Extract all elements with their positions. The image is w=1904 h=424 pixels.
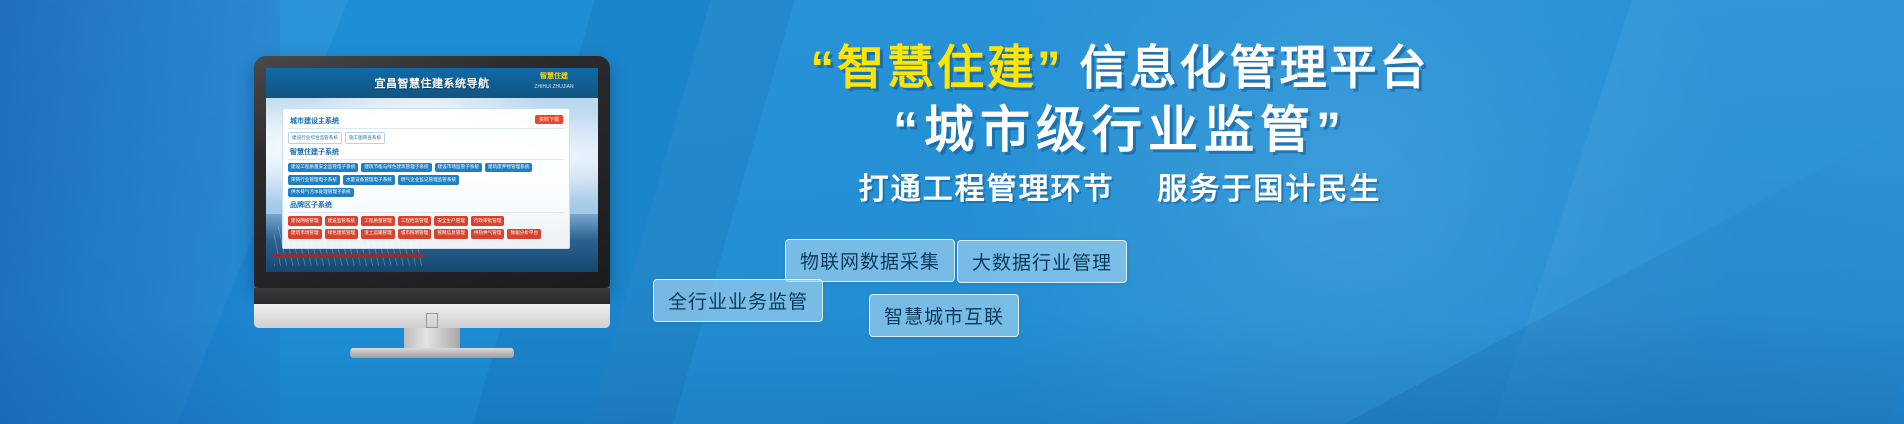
- screen-chip[interactable]: 行政审批管理: [471, 216, 505, 226]
- headline-line3-part-b: 服务于国计民生: [1157, 173, 1381, 206]
- screen-chip[interactable]: 渣土运输管理: [361, 229, 395, 239]
- screen-chip[interactable]: 工程档案管理: [398, 216, 432, 226]
- screen-body: 资料下载 城市建设主系统 建设行业综合监管系统 施工图审查系统 智慧住建子系统 …: [266, 98, 598, 272]
- screen-chip[interactable]: 荣销行业管理电子系统: [288, 175, 340, 185]
- screen-chip-row: 建设网络管理 建设监管系统 工程质量管理 工程档案管理 安全生产管理 行政审批管…: [288, 216, 564, 226]
- screen-download-button[interactable]: 资料下载: [535, 115, 563, 124]
- feature-tag-bigdata-industry[interactable]: 大数据行业管理: [957, 240, 1127, 283]
- screen-chip[interactable]: 供水排气污水处理管理子系统: [288, 188, 354, 198]
- headline-line-2: “城市级行业监管”: [620, 99, 1620, 162]
- screen-section-heading: 品牌区子系统: [290, 200, 564, 210]
- headline-line1-rest: 信息化管理平台: [1080, 41, 1430, 94]
- screen-chip[interactable]: 建设监管系统: [325, 216, 359, 226]
- screen-chip[interactable]: 城市照明管理: [398, 229, 432, 239]
- feature-tag-smart-city[interactable]: 智慧城市互联: [869, 294, 1019, 337]
- screen-chip[interactable]: 建筑节能与绿色建筑管理子系统: [361, 163, 431, 173]
- screen-section-divider: [288, 212, 564, 213]
- screen-chip[interactable]: 供热供气管理: [471, 229, 505, 239]
- headline-line-1: “智慧住建” 信息化管理平台: [620, 40, 1620, 95]
- monitor-stand-neck: [404, 328, 460, 350]
- monitor-screen: 宜昌智慧住建系统导航 智慧住建 ZHIHUI ZHUJIAN 资料下载 城市建设…: [266, 68, 598, 272]
- screen-chip[interactable]: 燃气企业监记管理监管系统: [398, 175, 459, 185]
- banner-root: 宜昌智慧住建系统导航 智慧住建 ZHIHUI ZHUJIAN 资料下载 城市建设…: [0, 0, 1904, 424]
- screen-chip[interactable]: 管网信息管理: [434, 229, 468, 239]
- feature-tag-industry-supervision[interactable]: 全行业业务监管: [653, 279, 823, 322]
- screen-section-divider: [288, 159, 564, 160]
- screen-chip[interactable]: 建设行业综合监管系统: [288, 132, 342, 144]
- screen-chip[interactable]: 安全生产管理: [434, 216, 468, 226]
- screen-chip[interactable]: 施工图审查系统: [345, 132, 385, 144]
- screen-chip-row: 建设工程质量安全监管电子系统 建筑节能与绿色建筑管理子系统 建设市场监管子系统 …: [288, 163, 564, 173]
- screen-chip[interactable]: 建设市场监管子系统: [435, 163, 482, 173]
- screen-chip-row: 建筑市场管理 绿色建筑管理 渣土运输管理 城市照明管理 管网信息管理 供热供气管…: [288, 229, 564, 239]
- headline-quote-open: “: [810, 41, 837, 94]
- screen-chip-row: 供水排气污水处理管理子系统: [288, 188, 564, 198]
- monitor-stand-foot: [350, 348, 514, 358]
- screen-section-divider: [288, 128, 564, 129]
- headline-block: “智慧住建” 信息化管理平台 “城市级行业监管” 打通工程管理环节 服务于国计民…: [620, 40, 1620, 209]
- feature-tag-iot-data[interactable]: 物联网数据采集: [785, 239, 955, 282]
- screen-chip[interactable]: 工程质量管理: [361, 216, 395, 226]
- screen-section-heading: 智慧住建子系统: [290, 147, 564, 157]
- imac-mockup: 宜昌智慧住建系统导航 智慧住建 ZHIHUI ZHUJIAN 资料下载 城市建设…: [254, 56, 610, 356]
- screen-titlebar: 宜昌智慧住建系统导航 智慧住建 ZHIHUI ZHUJIAN: [266, 68, 598, 98]
- screen-chip-row: 荣销行业管理电子系统 水量设备管理电子系统 燃气企业监记管理监管系统: [288, 175, 564, 185]
- screen-chip[interactable]: 水量设备管理电子系统: [343, 175, 395, 185]
- headline-line3-part-a: 打通工程管理环节: [859, 173, 1115, 206]
- screen-chip-row: 建设行业综合监管系统 施工图审查系统: [288, 132, 564, 144]
- screen-logo: 智慧住建 ZHIHUI ZHUJIAN: [516, 72, 592, 94]
- screen-title: 宜昌智慧住建系统导航: [375, 75, 490, 91]
- screen-logo-line1: 智慧住建: [516, 72, 592, 81]
- monitor-bezel: 宜昌智慧住建系统导航 智慧住建 ZHIHUI ZHUJIAN 资料下载 城市建设…: [254, 56, 610, 288]
- headline-line-3: 打通工程管理环节 服务于国计民生: [620, 170, 1620, 209]
- screen-chip[interactable]: 建筑市场管理: [288, 229, 322, 239]
- screen-section-heading: 城市建设主系统: [290, 116, 564, 126]
- screen-logo-line2: ZHIHUI ZHUJIAN: [516, 83, 592, 92]
- screen-chip[interactable]: 建设网络管理: [288, 216, 322, 226]
- screen-chip[interactable]: 数据分析平台: [507, 229, 541, 239]
- screen-chip[interactable]: 建筑废弃物管理系统: [485, 163, 532, 173]
- screen-chip[interactable]: 绿色建筑管理: [325, 229, 359, 239]
- screen-nav-panel: 资料下载 城市建设主系统 建设行业综合监管系统 施工图审查系统 智慧住建子系统 …: [282, 108, 570, 249]
- headline-highlight: 智慧住建: [837, 41, 1037, 94]
- headline-quote-close: ”: [1037, 41, 1064, 94]
- screen-chip[interactable]: 建设工程质量安全监管电子系统: [288, 163, 358, 173]
